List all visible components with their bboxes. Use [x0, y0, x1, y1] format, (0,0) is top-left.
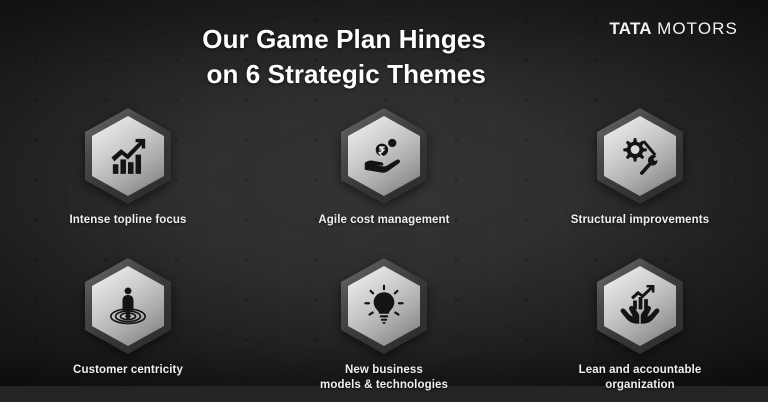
theme-card-structural-improvements[interactable]: Structural improvements	[512, 108, 768, 258]
theme-label-6: Lean and accountable organization	[579, 363, 702, 392]
page-title-line-1: Our Game Plan Hinges	[202, 24, 486, 54]
theme-card-customer-centricity[interactable]: Customer centricity	[0, 258, 256, 402]
theme-card-lean-accountable-organization[interactable]: Lean and accountable organization	[512, 258, 768, 402]
logo-text-tata: TATA	[609, 19, 651, 38]
theme-hexagon-4	[85, 258, 171, 354]
theme-card-agile-cost-management[interactable]: Agile cost management	[256, 108, 512, 258]
theme-label-3: Structural improvements	[571, 213, 709, 228]
theme-hexagon-6	[597, 258, 683, 354]
hand-rupee-coins-icon	[341, 108, 427, 204]
theme-label-4: Customer centricity	[73, 363, 183, 378]
hands-holding-growth-chart-icon	[597, 258, 683, 354]
theme-label-1: Intense topline focus	[69, 213, 186, 228]
lightbulb-idea-icon	[341, 258, 427, 354]
person-on-target-icon	[85, 258, 171, 354]
theme-label-2: Agile cost management	[318, 213, 449, 228]
tata-motors-logo: TATA MOTORS	[609, 19, 738, 39]
growth-chart-arrow-icon	[85, 108, 171, 204]
theme-hexagon-5	[341, 258, 427, 354]
themes-grid: Intense topline focus Agile cost managem…	[0, 108, 768, 402]
theme-card-intense-topline-focus[interactable]: Intense topline focus	[0, 108, 256, 258]
theme-hexagon-3	[597, 108, 683, 204]
page-title: Our Game Plan Hinges on 6 Strategic Them…	[0, 22, 486, 91]
theme-hexagon-2	[341, 108, 427, 204]
theme-label-5: New business models & technologies	[320, 363, 448, 392]
theme-hexagon-1	[85, 108, 171, 204]
page-title-line-2: on 6 Strategic Themes	[0, 57, 486, 92]
theme-card-new-business-models[interactable]: New business models & technologies	[256, 258, 512, 402]
slide-canvas: Our Game Plan Hinges on 6 Strategic Them…	[0, 0, 768, 402]
logo-text-motors: MOTORS	[657, 19, 738, 38]
gear-wrench-screwdriver-icon	[597, 108, 683, 204]
